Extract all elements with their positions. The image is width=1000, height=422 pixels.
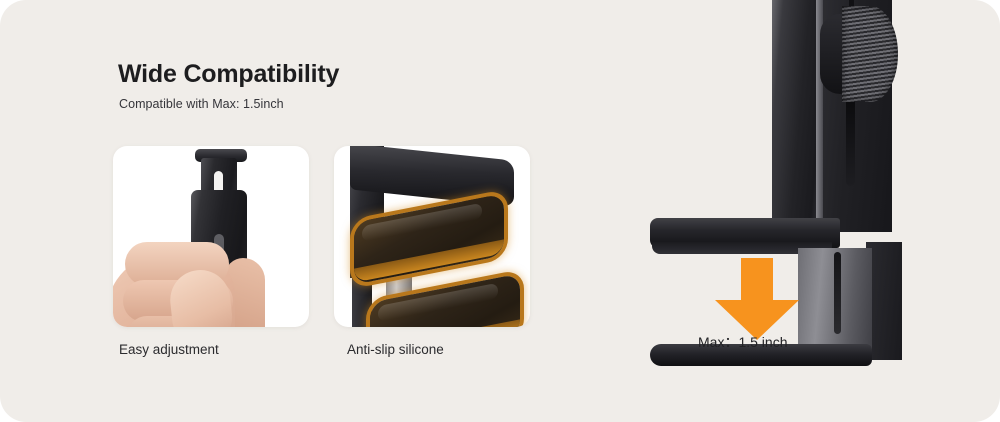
pad-edge-glow-upper bbox=[354, 239, 504, 282]
promo-panel: Wide Compatibility Compatible with Max: … bbox=[0, 0, 1000, 422]
arrow-shaft bbox=[741, 258, 773, 304]
page-subtitle: Compatible with Max: 1.5inch bbox=[119, 97, 284, 111]
pad-edge-glow-lower bbox=[370, 319, 520, 327]
feature-card-caption-1: Easy adjustment bbox=[119, 342, 219, 357]
product-clamp-image: Max：1.5 inch bbox=[620, 0, 1000, 422]
clamp-vertical-post bbox=[772, 0, 820, 232]
feature-card-caption-2: Anti-slip silicone bbox=[347, 342, 444, 357]
down-arrow-icon bbox=[715, 258, 799, 340]
page-title: Wide Compatibility bbox=[118, 60, 339, 89]
knurled-knob-icon bbox=[842, 6, 898, 102]
feature-card-easy-adjustment bbox=[113, 146, 309, 327]
clamp-post-slot bbox=[846, 96, 855, 186]
feature-card-anti-slip-silicone bbox=[334, 146, 530, 327]
max-capacity-label: Max：1.5 inch bbox=[698, 332, 787, 352]
clamp-shaft-slot bbox=[834, 252, 841, 334]
